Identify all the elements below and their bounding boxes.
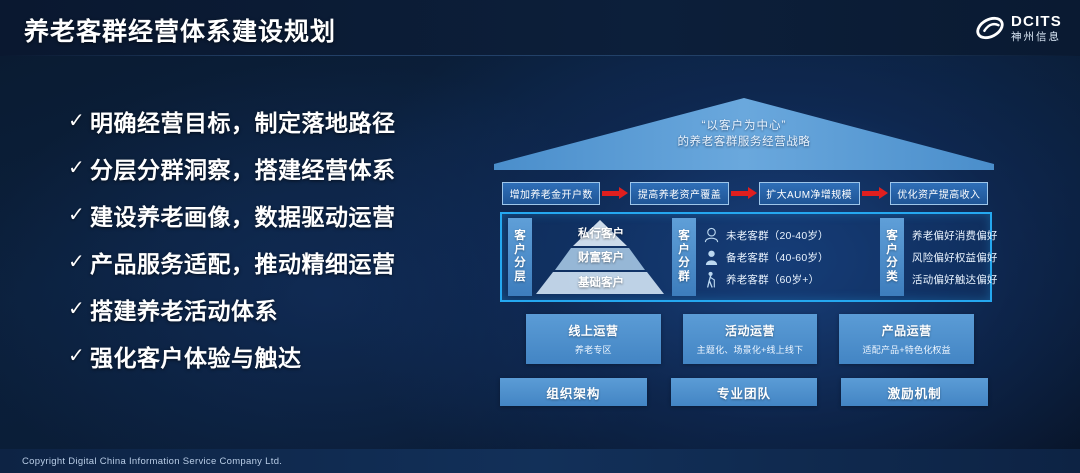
foundation-box-incentive[interactable]: 激励机制	[841, 378, 988, 406]
company-logo: DCITS 神州信息	[975, 10, 1062, 46]
category-item: 权益偏好	[955, 250, 998, 265]
table-row: 风险偏好 权益偏好	[912, 250, 998, 265]
list-item-label: 建设养老画像，数据驱动运营	[90, 198, 396, 232]
check-icon: ✓	[68, 252, 90, 272]
list-item-label: 分层分群洞察，搭建经营体系	[90, 151, 396, 185]
chain-box-2[interactable]: 提高养老资产覆盖	[630, 182, 728, 205]
list-item-label: 搭建养老活动体系	[90, 292, 278, 326]
list-item: ✓ 产品服务适配，推动精细运营	[68, 245, 468, 279]
person-head-icon	[704, 227, 719, 244]
elderly-cane-icon	[704, 271, 719, 288]
check-icon: ✓	[68, 299, 90, 319]
roof-line-1: “以客户为中心”	[494, 118, 994, 134]
arrow-right-icon	[600, 187, 630, 199]
tier-label-c2: 户	[514, 244, 526, 258]
swirl-icon	[975, 13, 1005, 43]
person-body-icon	[704, 249, 719, 266]
slide-footer: Copyright Digital China Information Serv…	[0, 449, 1080, 473]
group-label-c1: 客	[678, 230, 690, 244]
check-icon: ✓	[68, 111, 90, 131]
page-title: 养老客群经营体系建设规划	[24, 12, 336, 48]
category-label-c4: 类	[886, 271, 898, 285]
customer-categories: 养老偏好 消费偏好 风险偏好 权益偏好 活动偏好 触达偏好	[904, 214, 1002, 300]
foundation-box-team[interactable]: 专业团队	[671, 378, 818, 406]
check-icon: ✓	[68, 346, 90, 366]
key-points-list: ✓ 明确经营目标，制定落地路径 ✓ 分层分群洞察，搭建经营体系 ✓ 建设养老画像…	[68, 104, 468, 386]
pyramid-tier-1: 私行客户	[574, 221, 628, 245]
group-label-c4: 群	[678, 271, 690, 285]
customer-pyramid: 私行客户 财富客户 基础客户	[534, 214, 666, 300]
group-item-label: 备老客群（40-60岁）	[726, 250, 829, 265]
category-item: 养老偏好	[912, 228, 955, 243]
list-item-label: 强化客户体验与触达	[90, 339, 302, 373]
tier-label-c3: 分	[514, 257, 526, 271]
group-label: 客 户 分 群	[672, 218, 696, 296]
operation-card-title: 活动运营	[725, 322, 775, 339]
chain-box-1[interactable]: 增加养老金开户数	[502, 182, 600, 205]
operation-card-title: 线上运营	[568, 322, 618, 339]
operation-card-online[interactable]: 线上运营 养老专区	[526, 314, 661, 364]
roof-line-2: 的养老客群服务经营战略	[494, 134, 994, 150]
operations-row: 线上运营 养老专区 活动运营 主题化、场景化+线上线下 产品运营 适配产品+特色…	[526, 314, 974, 364]
operation-card-subtitle: 养老专区	[575, 343, 612, 356]
pyramid-tier-3: 基础客户	[540, 269, 662, 294]
chain-box-3[interactable]: 扩大AUM净增规模	[759, 182, 860, 205]
customer-groups: 未老客群（20-40岁） 备老客群（40-60岁）	[696, 214, 874, 300]
strategy-diagram: “以客户为中心” 的养老客群服务经营战略 增加养老金开户数 提高养老资产覆盖 扩…	[494, 96, 994, 426]
table-row: 养老偏好 消费偏好	[912, 228, 998, 243]
foundation-box-org[interactable]: 组织架构	[500, 378, 647, 406]
arrow-right-icon	[729, 187, 759, 199]
list-item: ✓ 建设养老画像，数据驱动运营	[68, 198, 468, 232]
category-label-c2: 户	[886, 244, 898, 258]
chain-box-4[interactable]: 优化资产提高收入	[890, 182, 988, 205]
arrow-right-icon	[860, 187, 890, 199]
check-icon: ✓	[68, 205, 90, 225]
logo-wordmark: DCITS 神州信息	[1011, 14, 1062, 43]
operation-card-title: 产品运营	[882, 322, 932, 339]
list-item: ✓ 分层分群洞察，搭建经营体系	[68, 151, 468, 185]
list-item-label: 产品服务适配，推动精细运营	[90, 245, 396, 279]
list-item: ✓ 明确经营目标，制定落地路径	[68, 104, 468, 138]
pyramid-tier-2: 财富客户	[556, 245, 646, 269]
operation-card-subtitle: 主题化、场景化+线上线下	[697, 343, 804, 356]
category-label: 客 户 分 类	[880, 218, 904, 296]
list-item: ✓ 强化客户体验与触达	[68, 339, 468, 373]
table-row: 活动偏好 触达偏好	[912, 272, 998, 287]
group-item-label: 未老客群（20-40岁）	[726, 228, 829, 243]
category-label-c1: 客	[886, 230, 898, 244]
roof-label: “以客户为中心” 的养老客群服务经营战略	[494, 118, 994, 150]
category-item: 消费偏好	[955, 228, 998, 243]
category-label-c3: 分	[886, 257, 898, 271]
logo-cn: 神州信息	[1011, 32, 1062, 43]
copyright-text: Copyright Digital China Information Serv…	[22, 456, 282, 467]
list-item: ✓ 搭建养老活动体系	[68, 292, 468, 326]
list-item: 备老客群（40-60岁）	[704, 249, 874, 266]
operation-card-product[interactable]: 产品运营 适配产品+特色化权益	[839, 314, 974, 364]
foundation-row: 组织架构 专业团队 激励机制	[500, 378, 988, 406]
list-item: 未老客群（20-40岁）	[704, 227, 874, 244]
operation-card-subtitle: 适配产品+特色化权益	[863, 343, 951, 356]
tier-label-c4: 层	[514, 271, 526, 285]
list-item-label: 明确经营目标，制定落地路径	[90, 104, 396, 138]
tier-label: 客 户 分 层	[508, 218, 532, 296]
check-icon: ✓	[68, 158, 90, 178]
slide-header: 养老客群经营体系建设规划 DCITS 神州信息	[0, 0, 1080, 56]
category-item: 活动偏好	[912, 272, 955, 287]
strategy-chain: 增加养老金开户数 提高养老资产覆盖 扩大AUM净增规模 优化资产提高收入	[502, 182, 988, 204]
group-label-c2: 户	[678, 244, 690, 258]
group-label-c3: 分	[678, 257, 690, 271]
list-item: 养老客群（60岁+）	[704, 271, 874, 288]
slide-canvas: 养老客群经营体系建设规划 DCITS 神州信息 ✓ 明确经营目标，制定落地路径 …	[0, 0, 1080, 473]
segmentation-panel: 客 户 分 层 私行客户 财富客户 基础客户 客 户 分 群	[500, 212, 992, 302]
group-item-label: 养老客群（60岁+）	[726, 272, 819, 287]
category-item: 触达偏好	[955, 272, 998, 287]
operation-card-activity[interactable]: 活动运营 主题化、场景化+线上线下	[683, 314, 818, 364]
logo-en: DCITS	[1011, 14, 1062, 29]
tier-label-c1: 客	[514, 230, 526, 244]
category-item: 风险偏好	[912, 250, 955, 265]
